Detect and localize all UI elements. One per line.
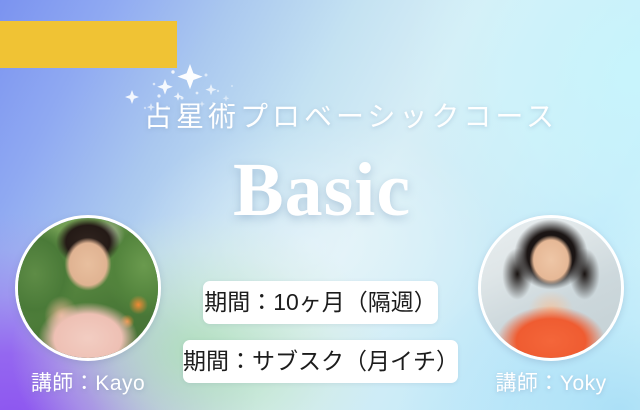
status-badge: 募集中 xyxy=(0,21,177,68)
instructor-label: 講師：Yoky xyxy=(475,373,627,394)
avatar-photo-yoky-icon xyxy=(481,218,621,358)
instructor-yoky: 講師：Yoky xyxy=(475,215,627,394)
course-promo-banner: 募集中 占星術プロベーシックコース Basic xyxy=(0,0,640,410)
detail-pill-plan: 期間：サブスク（月イチ） xyxy=(183,340,458,383)
status-badge-label: 募集中 xyxy=(43,34,133,56)
avatar-photo-kayo-icon xyxy=(18,218,158,358)
instructor-label: 講師：Kayo xyxy=(12,373,164,394)
instructor-kayo: 講師：Kayo xyxy=(12,215,164,394)
course-subtitle: 占星術プロベーシックコース xyxy=(0,104,640,132)
avatar xyxy=(478,215,624,361)
detail-pill-duration: 期間：10ヶ月（隔週） xyxy=(203,281,438,324)
avatar xyxy=(15,215,161,361)
